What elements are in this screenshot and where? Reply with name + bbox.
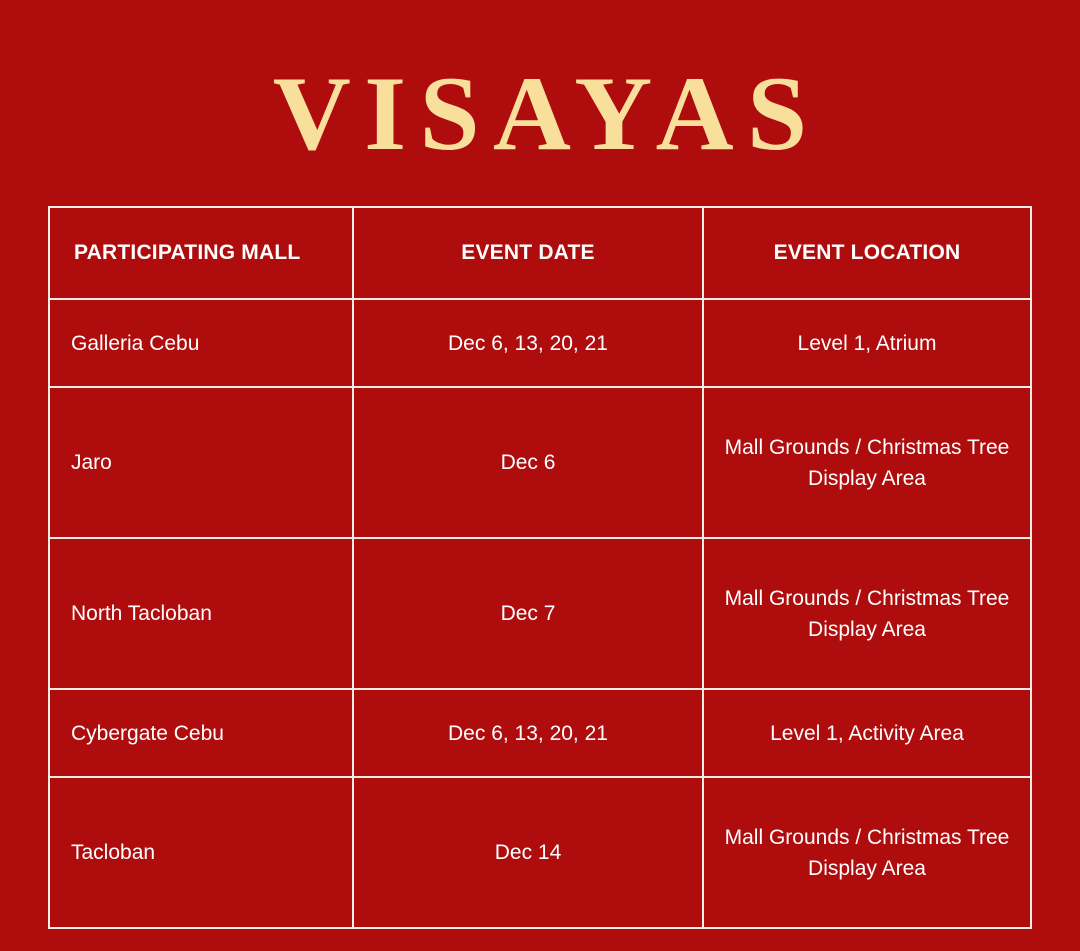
cell-event-location: Mall Grounds / Christmas Tree Display Ar…: [703, 777, 1031, 928]
cell-event-location: Mall Grounds / Christmas Tree Display Ar…: [703, 538, 1031, 689]
cell-event-location: Mall Grounds / Christmas Tree Display Ar…: [703, 387, 1031, 538]
column-header-participating-mall: PARTICIPATING MALL: [49, 207, 353, 299]
cell-event-date: Dec 6: [353, 387, 703, 538]
table-row: Cybergate Cebu Dec 6, 13, 20, 21 Level 1…: [49, 689, 1031, 777]
cell-event-date: Dec 7: [353, 538, 703, 689]
cell-event-date: Dec 6, 13, 20, 21: [353, 689, 703, 777]
cell-participating-mall: Tacloban: [49, 777, 353, 928]
poster-canvas: VISAYAS PARTICIPATING MALL EVENT DATE EV…: [0, 0, 1080, 951]
page-title: VISAYAS: [260, 58, 821, 170]
cell-participating-mall: North Tacloban: [49, 538, 353, 689]
column-header-event-location: EVENT LOCATION: [703, 207, 1031, 299]
table-row: Tacloban Dec 14 Mall Grounds / Christmas…: [49, 777, 1031, 928]
column-header-event-date: EVENT DATE: [353, 207, 703, 299]
table-header: PARTICIPATING MALL EVENT DATE EVENT LOCA…: [49, 207, 1031, 299]
events-table: PARTICIPATING MALL EVENT DATE EVENT LOCA…: [48, 206, 1032, 929]
cell-event-date: Dec 14: [353, 777, 703, 928]
cell-event-location: Level 1, Atrium: [703, 299, 1031, 387]
table-row: North Tacloban Dec 7 Mall Grounds / Chri…: [49, 538, 1031, 689]
page-title-container: VISAYAS: [0, 58, 1080, 170]
cell-participating-mall: Cybergate Cebu: [49, 689, 353, 777]
cell-event-date: Dec 6, 13, 20, 21: [353, 299, 703, 387]
table-row: Galleria Cebu Dec 6, 13, 20, 21 Level 1,…: [49, 299, 1031, 387]
table-header-row: PARTICIPATING MALL EVENT DATE EVENT LOCA…: [49, 207, 1031, 299]
table-row: Jaro Dec 6 Mall Grounds / Christmas Tree…: [49, 387, 1031, 538]
table-body: Galleria Cebu Dec 6, 13, 20, 21 Level 1,…: [49, 299, 1031, 928]
cell-participating-mall: Jaro: [49, 387, 353, 538]
cell-participating-mall: Galleria Cebu: [49, 299, 353, 387]
cell-event-location: Level 1, Activity Area: [703, 689, 1031, 777]
